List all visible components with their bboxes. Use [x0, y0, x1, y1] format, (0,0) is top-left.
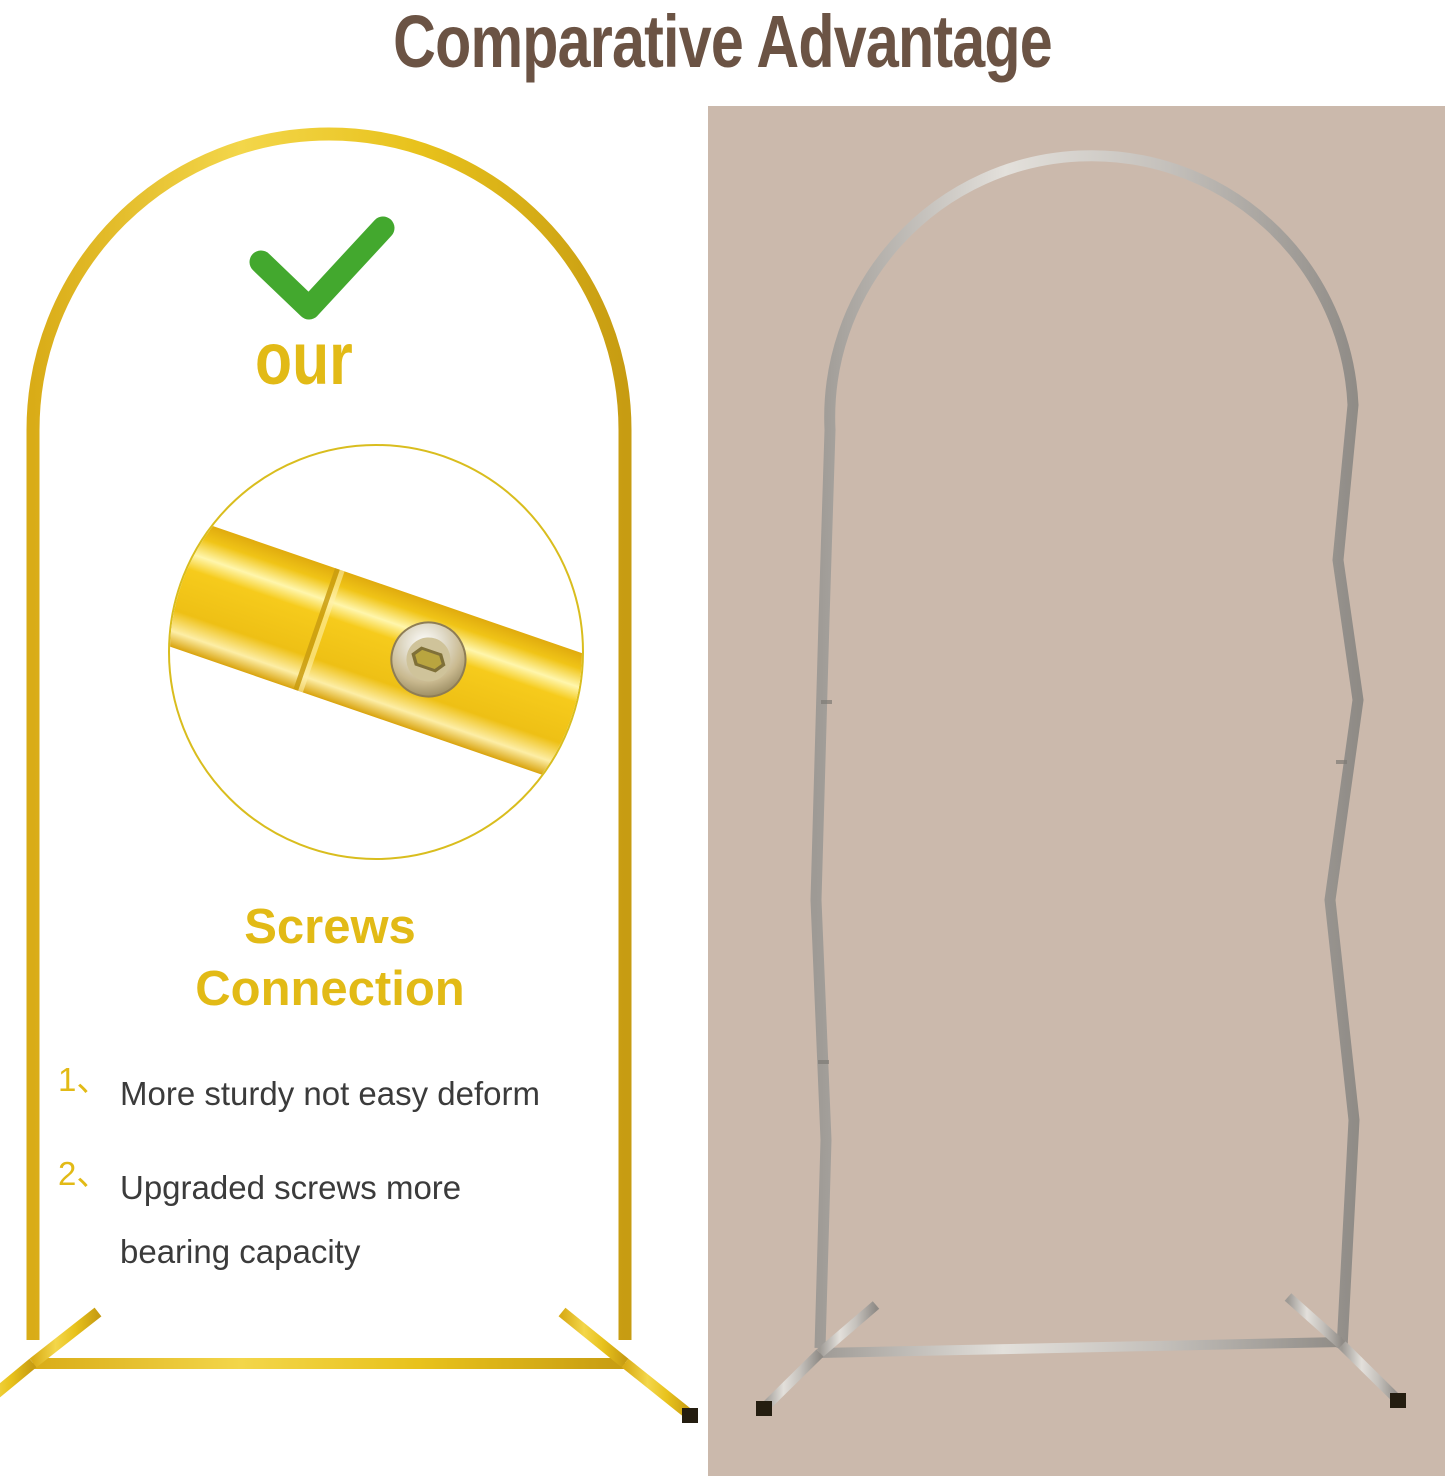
- list-item: 1、 More sturdy not easy deform: [58, 1062, 658, 1126]
- hex-screw-icon: [170, 446, 582, 858]
- panel-our: our: [0, 0, 708, 1476]
- bullet-text: More sturdy not easy deform: [120, 1062, 658, 1126]
- panel-other: other: [708, 0, 1445, 1476]
- bullet-list-our: 1、 More sturdy not easy deform 2、 Upgrad…: [58, 1062, 658, 1314]
- heading-screws-connection: Screws Connection: [60, 896, 600, 1020]
- list-item: 2、 Upgraded screws more bearing capacity: [58, 1156, 658, 1284]
- comparison-infographic: Comparative Advantage: [0, 0, 1445, 1476]
- screw-detail-photo: [168, 444, 584, 860]
- check-icon: [247, 214, 397, 324]
- bullet-number: 2、: [58, 1156, 120, 1192]
- bullet-number: 1、: [58, 1062, 120, 1098]
- grey-arch-frame-icon: [708, 0, 1445, 1476]
- page-title: Comparative Advantage: [145, 2, 1301, 82]
- label-our: our: [255, 320, 353, 398]
- bullet-text: Upgraded screws more bearing capacity: [120, 1156, 658, 1284]
